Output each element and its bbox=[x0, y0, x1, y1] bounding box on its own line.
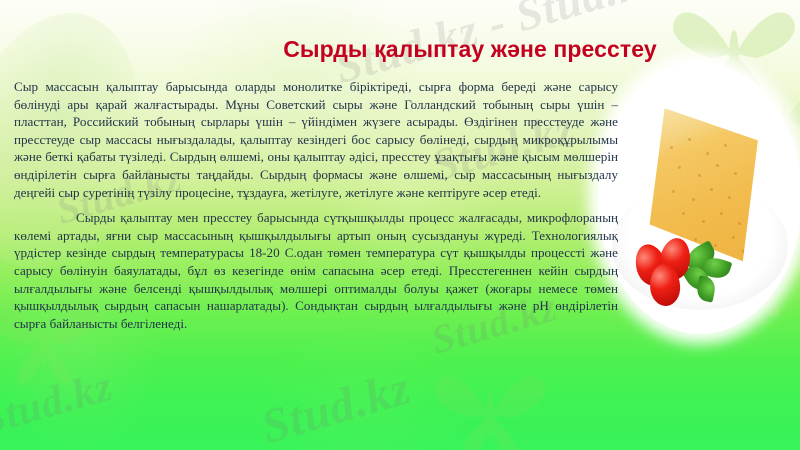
slide-title: Сырды қалыптау және пресстеу bbox=[0, 36, 800, 63]
slide-body: Сыр массасын қалыптау барысында оларды м… bbox=[14, 78, 618, 332]
watermark-text: Stud.kz bbox=[0, 362, 118, 445]
presentation-slide: Stud.kz - Stud.kz Stud.kz Stud.kz Stud.k… bbox=[0, 0, 800, 450]
butterfly-icon bbox=[430, 366, 550, 450]
leaf-shape bbox=[250, 330, 470, 450]
cheese-photo bbox=[598, 62, 800, 334]
body-paragraph-1: Сыр массасын қалыптау барысында оларды м… bbox=[14, 78, 618, 201]
watermark-text: Stud.kz bbox=[255, 360, 417, 450]
body-paragraph-2: Сырды қалыптау мен пресстеу барысында сү… bbox=[14, 209, 618, 332]
